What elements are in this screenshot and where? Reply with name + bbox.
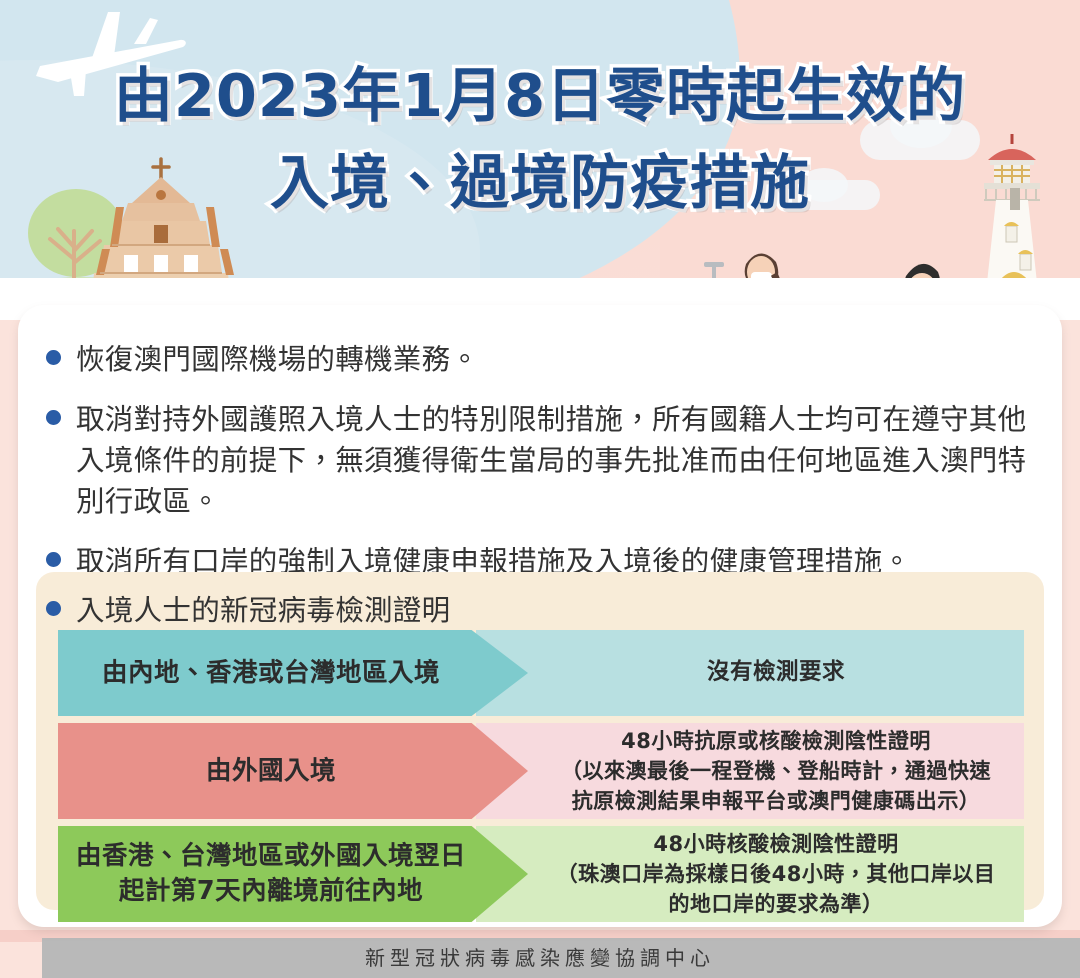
row-requirement-cell: 沒有檢測要求 [476,630,1024,716]
bullet-dot-icon [46,410,61,425]
page-title-line-1: 由2023年1月8日零時起生效的 [0,52,1080,139]
row-origin-cell: 由香港、台灣地區或外國入境翌日 起計第7天內離境前往內地 [58,826,528,922]
origin-label: 由外國入境 [206,754,380,789]
measures-list: 恢復澳門國際機場的轉機業務。 取消對持外國護照入境人士的特別限制措施，所有國籍人… [18,305,1062,582]
requirement-label: 48小時核酸檢測陰性證明 （珠澳口岸為採樣日後48小時，其他口岸以目 的地口岸的… [557,829,996,919]
bullet-dot-icon [46,601,61,616]
requirement-label: 沒有檢測要求 [707,657,845,689]
bullet-dot-icon [46,552,61,567]
origin-label: 由香港、台灣地區或外國入境翌日 起計第7天內離境前往內地 [76,839,510,908]
requirements-table: 由內地、香港或台灣地區入境 沒有檢測要求 由外國入境 48小時 [58,630,1024,929]
infographic-poster: 由2023年1月8日零時起生效的 入境、過境防疫措施 恢復澳門國際機場的轉機業務… [0,0,1080,978]
origin-label: 由內地、香港或台灣地區入境 [102,656,484,691]
footer-bar: 新型冠狀病毒感染應變協調中心 [42,938,1080,978]
footer-text: 新型冠狀病毒感染應變協調中心 [42,938,1080,978]
row-requirement-cell: 48小時抗原或核酸檢測陰性證明 （以來澳最後一程登機、登船時計，通過快速 抗原檢… [476,723,1024,819]
panel-heading: 入境人士的新冠病毒檢測證明 [76,590,450,631]
page-title-line-2: 入境、過境防疫措施 [0,139,1080,226]
table-row: 由香港、台灣地區或外國入境翌日 起計第7天內離境前往內地 48小時核酸檢測陰性證… [58,826,1024,922]
test-certificate-panel: 入境人士的新冠病毒檢測證明 由內地、香港或台灣地區入境 沒有檢測要求 [36,572,1044,910]
panel-heading-row: 入境人士的新冠病毒檢測證明 [36,572,1044,635]
table-row: 由內地、香港或台灣地區入境 沒有檢測要求 [58,630,1024,716]
row-origin-cell: 由外國入境 [58,723,528,819]
row-requirement-cell: 48小時核酸檢測陰性證明 （珠澳口岸為採樣日後48小時，其他口岸以目 的地口岸的… [476,826,1024,922]
content-card: 恢復澳門國際機場的轉機業務。 取消對持外國護照入境人士的特別限制措施，所有國籍人… [18,305,1062,927]
requirement-label: 48小時抗原或核酸檢測陰性證明 （以來澳最後一程登機、登船時計，通過快速 抗原檢… [561,726,991,816]
page-title: 由2023年1月8日零時起生效的 入境、過境防疫措施 [0,52,1080,227]
list-item: 取消對持外國護照入境人士的特別限制措施，所有國籍人士均可在遵守其他入境條件的前提… [44,399,1032,522]
list-item: 恢復澳門國際機場的轉機業務。 [44,339,1032,380]
bullet-dot-icon [46,350,61,365]
measure-text: 恢復澳門國際機場的轉機業務。 [76,339,479,380]
row-origin-cell: 由內地、香港或台灣地區入境 [58,630,528,716]
measure-text: 取消對持外國護照入境人士的特別限制措施，所有國籍人士均可在遵守其他入境條件的前提… [76,399,1032,522]
table-row: 由外國入境 48小時抗原或核酸檢測陰性證明 （以來澳最後一程登機、登船時計，通過… [58,723,1024,819]
